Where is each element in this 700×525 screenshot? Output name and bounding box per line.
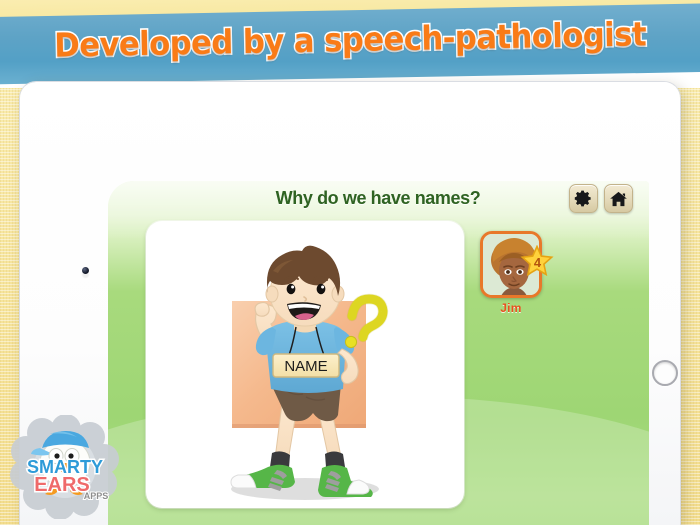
tablet-home-button[interactable] (652, 360, 678, 386)
promo-banner-label: Developed by a speech-pathologist (54, 14, 646, 64)
app-header: Why do we have names? (108, 181, 649, 227)
promo-banner: Developed by a speech-pathologist (0, 0, 700, 88)
page-title: Why do we have names? (213, 188, 543, 209)
question-illustration: NAME (146, 221, 464, 508)
question-card: NAME (146, 221, 464, 508)
screenshot-root: Developed by a speech-pathologist Why do… (0, 0, 700, 525)
front-camera-icon (82, 267, 89, 274)
nametag-text: NAME (284, 358, 327, 375)
player-name: Jim (480, 301, 542, 315)
brand-line2: EARS (34, 474, 90, 496)
star-badge: 4 (520, 245, 554, 279)
gear-icon (574, 189, 593, 208)
home-icon (609, 190, 628, 208)
player-panel[interactable]: 4 Jim (480, 231, 550, 315)
brand-logo: SMARTY EARS APPS (10, 415, 122, 519)
star-count: 4 (520, 245, 554, 279)
app-home-button[interactable] (604, 184, 633, 213)
promo-banner-text: Developed by a speech-pathologist (0, 13, 700, 65)
app-screen: Why do we have names? (108, 181, 649, 525)
brand-line3: APPS (84, 491, 109, 501)
settings-button[interactable] (569, 184, 598, 213)
